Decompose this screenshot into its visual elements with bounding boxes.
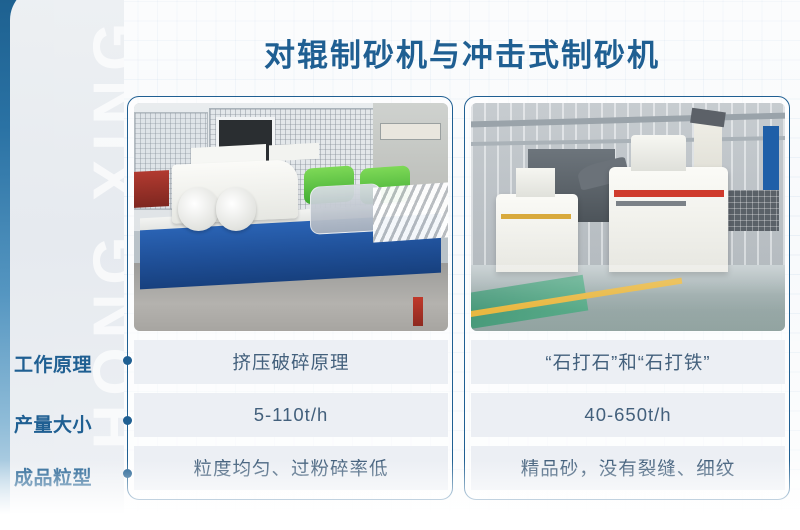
comparison-card-left: 挤压破碎原理 5-110t/h 粒度均匀、过粉碎率低: [127, 96, 453, 500]
row-label-working-principle: 工作原理: [14, 350, 116, 377]
value-text: 5-110t/h: [254, 404, 329, 426]
value-text: 40-650t/h: [584, 404, 671, 426]
product-photo-vsi-sand-maker: [471, 103, 785, 331]
page-title: 对辊制砂机与冲击式制砂机: [124, 30, 800, 75]
value-row: 40-650t/h: [471, 393, 785, 437]
value-row: 5-110t/h: [134, 393, 448, 437]
product-photo-roller-sand-maker: [134, 103, 448, 331]
left-sidebar: HONG XING: [0, 0, 124, 530]
value-text: “石打石”和“石打铁”: [545, 349, 710, 375]
value-row: 精品砂，没有裂缝、细纹: [471, 446, 785, 490]
value-rows-right: “石打石”和“石打铁” 40-650t/h 精品砂，没有裂缝、细纹: [471, 340, 785, 499]
sidebar-accent-inner: [10, 0, 54, 530]
brand-watermark: HONG XING: [81, 12, 125, 452]
row-label-dot: [123, 416, 132, 425]
comparison-card-right: “石打石”和“石打铁” 40-650t/h 精品砂，没有裂缝、细纹: [464, 96, 790, 500]
comparison-infographic: HONG XING 对辊制砂机与冲击式制砂机: [0, 0, 800, 530]
row-label-dot: [123, 469, 132, 478]
row-label-product-shape: 成品粒型: [14, 463, 116, 490]
row-label-capacity: 产量大小: [14, 410, 116, 437]
value-row: 粒度均匀、过粉碎率低: [134, 446, 448, 490]
value-rows-left: 挤压破碎原理 5-110t/h 粒度均匀、过粉碎率低: [134, 340, 448, 499]
value-text: 粒度均匀、过粉碎率低: [193, 455, 388, 481]
value-row: “石打石”和“石打铁”: [471, 340, 785, 384]
value-text: 精品砂，没有裂缝、细纹: [521, 455, 736, 481]
value-row: 挤压破碎原理: [134, 340, 448, 384]
value-text: 挤压破碎原理: [232, 349, 349, 375]
row-label-dot: [123, 356, 132, 365]
